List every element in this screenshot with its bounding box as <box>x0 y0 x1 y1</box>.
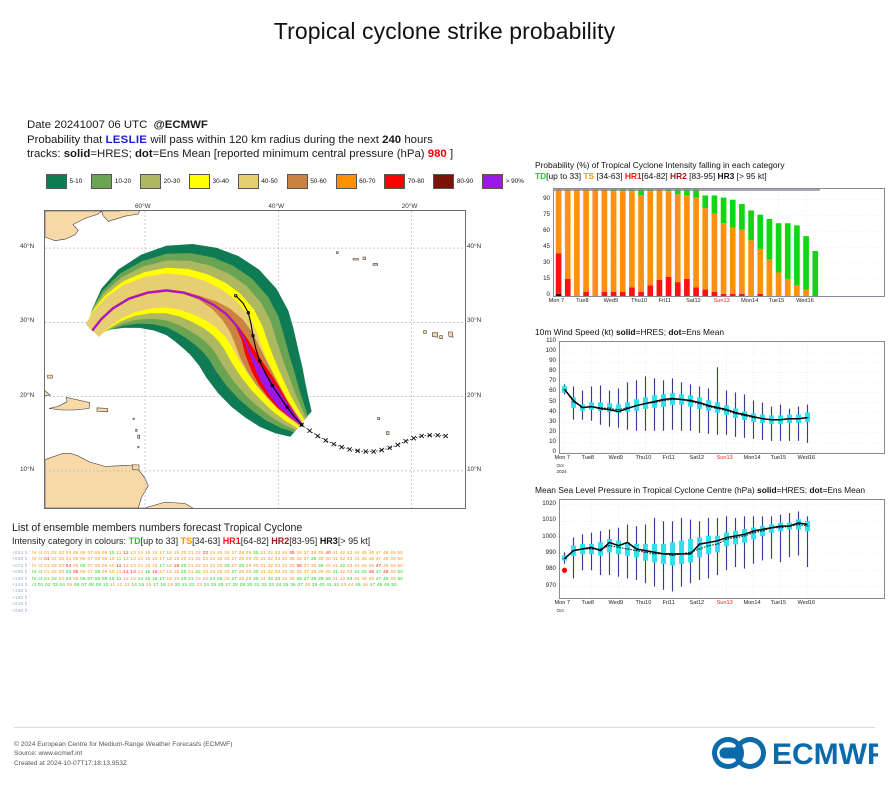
storm-name: LESLIE <box>106 134 148 146</box>
page-root: Tropical cyclone strike probability Date… <box>0 0 889 800</box>
ensemble-member-34: 34 <box>282 576 288 581</box>
mslp-title-mid2: =Ens Mean <box>822 485 865 495</box>
ensemble-member-01: 01 <box>44 563 50 568</box>
ensemble-member-ct: ct <box>38 563 42 568</box>
ensemble-member-20: 20 <box>181 576 187 581</box>
wind-ytick-0: 0 <box>535 448 556 455</box>
ensemble-member-06: 06 <box>80 576 86 581</box>
ensemble-member-01: 01 <box>44 569 50 574</box>
ensemble-member-05: 05 <box>67 582 73 587</box>
probability-colorbar: 5-1010-2020-3030-4040-5050-6060-7070-808… <box>46 174 533 189</box>
observed-track-marker-9 <box>372 449 376 453</box>
ensemble-member-43: 43 <box>347 569 353 574</box>
ensemble-member-42: 42 <box>340 556 346 561</box>
ensemble-member-50: 50 <box>398 569 404 574</box>
ensemble-member-16: 16 <box>152 556 158 561</box>
bar-6-HR1 <box>611 292 617 296</box>
wind-ytick-4: 40 <box>535 408 556 415</box>
intensity-xtick-6: Sun13 <box>714 298 730 304</box>
ensemble-member-19: 19 <box>174 569 180 574</box>
colorbar-swatch <box>384 174 405 189</box>
ip-range-hr3: [> 95 kt] <box>737 171 767 181</box>
wind-xtick-7: Mon14 <box>744 455 761 461</box>
ensemble-member-04: 04 <box>60 582 66 587</box>
bar-14-TS <box>684 195 690 278</box>
ensemble-member-20: 20 <box>181 563 187 568</box>
ensemble-member-45: 45 <box>361 563 367 568</box>
ensemble-member-44: 44 <box>354 576 360 581</box>
ensemble-member-25: 25 <box>217 569 223 574</box>
ensemble-member-15: 15 <box>139 582 145 587</box>
mslp-xtick-8: Tue15 <box>771 600 787 606</box>
ensemble-member-50: 50 <box>398 550 404 555</box>
ensemble-member-49: 49 <box>390 563 396 568</box>
observed-track-marker-4 <box>332 442 336 446</box>
ensemble-member-03: 03 <box>59 556 65 561</box>
colorbar-item-3: 30-40 <box>189 174 229 189</box>
ensemble-member-09: 09 <box>102 556 108 561</box>
intensity-ytick-4: 60 <box>535 227 550 234</box>
ensemble-member-15: 15 <box>145 550 151 555</box>
ensemble-member-14: 14 <box>138 576 144 581</box>
ensemble-member-10: 10 <box>109 550 115 555</box>
ensemble-legend-prefix: Intensity category in colours: <box>12 536 126 546</box>
ensemble-member-hr: hr <box>32 550 37 555</box>
wind-xsub-1: 2024 <box>557 469 567 474</box>
bar-1-TS <box>565 189 571 279</box>
legend-range-td: [up to 33] <box>141 536 179 546</box>
ensemble-member-23: 23 <box>203 550 209 555</box>
colorbar-swatch <box>482 174 503 189</box>
ensemble-member-hr: hr <box>32 563 37 568</box>
ensemble-member-17: 17 <box>159 563 165 568</box>
ip-range-hr1: [64-82] <box>642 171 668 181</box>
ip-legend-hr3: HR3 <box>718 171 735 181</box>
ensemble-member-10: 10 <box>109 569 115 574</box>
mslp-ytick-5: 1020 <box>535 500 556 507</box>
landmass-22 <box>386 432 389 435</box>
ensemble-member-12: 12 <box>123 576 129 581</box>
ensemble-member-ct: ct <box>38 550 42 555</box>
ensemble-member-41: 41 <box>333 550 339 555</box>
wind-title-mid1: =HRES; <box>636 327 669 337</box>
ensemble-member-17: 17 <box>159 556 165 561</box>
ensemble-member-49: 49 <box>390 556 396 561</box>
ensemble-member-47: 47 <box>376 576 382 581</box>
ensemble-member-04: 04 <box>66 576 72 581</box>
colorbar-label: 30-40 <box>213 178 229 185</box>
mslp-ytick-3: 1000 <box>535 533 556 540</box>
legend-code-td: TD <box>129 536 141 546</box>
ensemble-member-36: 36 <box>296 563 302 568</box>
ensemble-member-46: 46 <box>369 550 375 555</box>
legend-code-hr2: HR2 <box>271 536 289 546</box>
ensemble-member-48: 48 <box>383 550 389 555</box>
ensemble-member-20: 20 <box>181 556 187 561</box>
wind-ytick-5: 50 <box>535 398 556 405</box>
ensemble-member-45: 45 <box>361 569 367 574</box>
ensemble-member-34: 34 <box>282 556 288 561</box>
ensemble-member-17: 17 <box>159 569 165 574</box>
legend-range-hr1: [64-82] <box>241 536 269 546</box>
landmass-27 <box>48 375 53 378</box>
ensemble-member-16: 16 <box>146 582 152 587</box>
mslp-ytick-2: 990 <box>535 549 556 556</box>
ensemble-member-23: 23 <box>203 556 209 561</box>
ensemble-member-27: 27 <box>231 576 237 581</box>
bar-21-TS <box>748 240 754 296</box>
ensemble-member-41: 41 <box>333 569 339 574</box>
ensemble-member-09: 09 <box>102 563 108 568</box>
wind-speed-chart: 10m Wind Speed (kt) solid=HRES; dot=Ens … <box>535 327 883 338</box>
ensemble-member-47: 47 <box>376 556 382 561</box>
wind-xtick-8: Tue15 <box>771 455 787 461</box>
ensemble-member-44: 44 <box>348 582 354 587</box>
intensity-xtick-5: Sat12 <box>686 298 701 304</box>
ensemble-member-02: 02 <box>51 576 57 581</box>
ensemble-member-44: 44 <box>354 569 360 574</box>
bar-12-TS <box>666 191 672 277</box>
bar-18-TD <box>721 198 727 224</box>
mslp-xtick-3: Thu10 <box>636 600 652 606</box>
landmass-11 <box>138 435 140 438</box>
legend-code-hr3: HR3 <box>320 536 338 546</box>
colorbar-swatch <box>336 174 357 189</box>
colorbar-item-6: 60-70 <box>336 174 376 189</box>
ensemble-member-31: 31 <box>260 569 266 574</box>
ensemble-member-45: 45 <box>361 556 367 561</box>
ensemble-member-27: 27 <box>225 582 231 587</box>
map-lon-label-1: 40°W <box>268 203 284 210</box>
ensemble-member-38: 38 <box>311 563 317 568</box>
ensemble-member-04: 04 <box>66 550 72 555</box>
ensemble-member-36: 36 <box>296 576 302 581</box>
ensemble-member-13: 13 <box>130 550 136 555</box>
wind-ytick-2: 20 <box>535 428 556 435</box>
ensemble-member-08: 08 <box>88 582 94 587</box>
ensemble-member-08: 08 <box>95 576 101 581</box>
ensemble-member-30: 30 <box>253 550 259 555</box>
ensemble-member-30: 30 <box>247 582 253 587</box>
date-value: 20241007 06 UTC <box>54 119 147 131</box>
map-lat-label-right-2: 20°N <box>467 392 481 399</box>
observed-track-marker-14 <box>412 436 416 440</box>
box-14 <box>688 539 693 562</box>
ensemble-member-06: 06 <box>80 556 86 561</box>
tracks-pre: tracks: <box>27 148 61 160</box>
landmass-13 <box>336 252 338 254</box>
ensemble-member-25: 25 <box>217 550 223 555</box>
ensemble-member-35: 35 <box>289 550 295 555</box>
ensemble-member-06: 06 <box>80 550 86 555</box>
ensemble-member-06: 06 <box>80 569 86 574</box>
ensemble-member-44: 44 <box>354 550 360 555</box>
bar-10-HR1 <box>647 285 653 296</box>
ensemble-member-44: 44 <box>354 556 360 561</box>
ensemble-member-43: 43 <box>347 563 353 568</box>
ensemble-member-02: 02 <box>51 550 57 555</box>
ensemble-member-42: 42 <box>340 563 346 568</box>
intensity-ytick-3: 45 <box>535 243 550 250</box>
legend-code-ts: TS <box>181 536 193 546</box>
ensemble-member-35: 35 <box>289 569 295 574</box>
wind-xtick-1: Tue8 <box>582 455 595 461</box>
colorbar-label: 10-20 <box>115 178 131 185</box>
ensemble-member-42: 42 <box>340 576 346 581</box>
observed-track-marker-11 <box>388 446 392 450</box>
colorbar-item-5: 50-60 <box>287 174 327 189</box>
ensemble-member-12: 12 <box>123 556 129 561</box>
bar-25-TS <box>785 279 791 296</box>
ensemble-member-12: 12 <box>117 582 123 587</box>
bar-26-TD <box>794 225 800 285</box>
ensemble-member-15: 15 <box>145 556 151 561</box>
ensemble-member-31: 31 <box>260 556 266 561</box>
ensemble-member-27: 27 <box>231 556 237 561</box>
prob-post: hours <box>404 134 433 146</box>
ecmwf-logo: ECMWF <box>706 733 878 778</box>
ensemble-member-31: 31 <box>260 550 266 555</box>
landmass-18 <box>432 333 437 337</box>
ensemble-member-43: 43 <box>347 556 353 561</box>
bar-26-TS <box>794 285 800 296</box>
wind-ytick-6: 60 <box>535 387 556 394</box>
ensemble-member-39: 39 <box>318 576 324 581</box>
ensemble-member-46: 46 <box>362 582 368 587</box>
wind-xtick-5: Sat12 <box>690 455 705 461</box>
bar-15-TS <box>693 198 699 288</box>
ip-range-ts: [34-63] <box>596 171 622 181</box>
ensemble-member-41: 41 <box>326 582 332 587</box>
ensemble-member-48: 48 <box>383 569 389 574</box>
ensemble-member-02: 02 <box>51 563 57 568</box>
ensemble-member-21: 21 <box>188 569 194 574</box>
ensemble-member-11: 11 <box>116 556 121 561</box>
ensemble-member-09: 09 <box>102 576 108 581</box>
ensemble-member-02: 02 <box>51 569 57 574</box>
wind-ytick-11: 110 <box>535 337 556 344</box>
intensity-xtick-8: Tue15 <box>769 298 785 304</box>
colorbar-item-8: 80-90 <box>433 174 473 189</box>
ensemble-member-25: 25 <box>217 576 223 581</box>
colorbar-item-1: 10-20 <box>91 174 131 189</box>
footer-created: Created at 2024-10-07T17:18:13.953Z <box>14 759 232 768</box>
ensemble-member-ct: ct <box>38 569 42 574</box>
ensemble-member-29: 29 <box>240 582 246 587</box>
ensemble-member-42: 42 <box>340 569 346 574</box>
ensemble-member-45: 45 <box>355 582 361 587</box>
mslp-ytick-0: 970 <box>535 582 556 589</box>
ensemble-member-08: 08 <box>95 563 101 568</box>
prob-pre: Probability that <box>27 134 102 146</box>
bar-24-TD <box>776 223 782 272</box>
ensemble-member-17: 17 <box>159 550 165 555</box>
prob-mid: will pass within 120 km radius during th… <box>150 134 379 146</box>
bar-23-TS <box>767 260 773 296</box>
ensemble-member-38: 38 <box>311 576 317 581</box>
ensemble-member-13: 13 <box>130 563 136 568</box>
ensemble-member-44: 44 <box>354 563 360 568</box>
bar-16-TD <box>702 195 708 208</box>
mslp-xtick-2: Wed9 <box>609 600 624 606</box>
ensemble-member-23: 23 <box>196 582 202 587</box>
box-15 <box>697 538 702 558</box>
ensemble-member-18: 18 <box>167 569 173 574</box>
bar-7-TS <box>620 191 626 292</box>
ensemble-member-08: 08 <box>95 550 101 555</box>
ensemble-member-38: 38 <box>305 582 311 587</box>
ensemble-member-42: 42 <box>340 550 346 555</box>
ensemble-member-34: 34 <box>282 569 288 574</box>
mslp-title-mid1: =HRES; <box>777 485 810 495</box>
ensemble-member-35: 35 <box>283 582 289 587</box>
intensity-xtick-4: Fri11 <box>659 298 671 304</box>
wind-xtick-6: Sun13 <box>717 455 733 461</box>
ensemble-member-43: 43 <box>341 582 347 587</box>
ensemble-member-23: 23 <box>203 569 209 574</box>
bar-16-TS <box>702 208 708 289</box>
colorbar-swatch <box>140 174 161 189</box>
ensemble-member-05: 05 <box>73 563 79 568</box>
ensemble-member-28: 28 <box>233 582 239 587</box>
ip-legend-td: TD <box>535 171 546 181</box>
legend-range-hr3: [> 95 kt] <box>338 536 370 546</box>
ensemble-member-32: 32 <box>268 550 274 555</box>
bar-18-HR1 <box>721 294 727 296</box>
ensemble-member-31: 31 <box>254 582 260 587</box>
landmass-9 <box>133 418 134 419</box>
ensemble-member-26: 26 <box>224 550 230 555</box>
ensemble-member-07: 07 <box>87 550 93 555</box>
colorbar-label: 20-30 <box>164 178 180 185</box>
landmass-14 <box>353 259 358 261</box>
ensemble-member-40: 40 <box>325 563 331 568</box>
ensemble-member-14: 14 <box>138 569 144 574</box>
colorbar-label: 40-50 <box>261 178 277 185</box>
ensemble-member-46: 46 <box>369 563 375 568</box>
bar-1-HR1 <box>565 279 571 296</box>
bar-17-TS <box>712 214 718 292</box>
ensemble-member-37: 37 <box>304 550 310 555</box>
wind-xtick-2: Wed9 <box>609 455 624 461</box>
mslp-chart-title: Mean Sea Level Pressure in Tropical Cycl… <box>535 485 883 496</box>
ensemble-member-43: 43 <box>347 576 353 581</box>
bar-20-HR1 <box>739 294 745 296</box>
bar-27-TS <box>803 290 809 296</box>
bar-17-TD <box>712 195 718 213</box>
landmass-0 <box>45 211 102 241</box>
ensemble-member-47: 47 <box>376 569 382 574</box>
ensemble-member-13: 13 <box>130 569 136 574</box>
tracks-ensmean: =Ens Mean [reported minimum central pres… <box>153 148 425 160</box>
ip-legend-hr2: HR2 <box>670 171 687 181</box>
centre-label: @ECMWF <box>154 119 208 131</box>
ensemble-member-29: 29 <box>246 576 252 581</box>
ensemble-member-hr: hr <box>32 576 37 581</box>
ensemble-member-01: 01 <box>38 582 44 587</box>
ensemble-member-25: 25 <box>211 582 217 587</box>
ensemble-member-36: 36 <box>296 556 302 561</box>
ensemble-member-33: 33 <box>275 569 281 574</box>
ensemble-member-27: 27 <box>231 563 237 568</box>
ensemble-member-05: 05 <box>73 576 79 581</box>
ensemble-member-33: 33 <box>275 550 281 555</box>
ecmwf-logo-svg: ECMWF <box>706 733 878 773</box>
mslp-xtick-5: Sat12 <box>690 600 705 606</box>
ensemble-member-11: 11 <box>116 569 121 574</box>
mslp-xtick-9: Wed16 <box>798 600 816 606</box>
ensemble-member-07: 07 <box>87 556 93 561</box>
mslp-title-pre: Mean Sea Level Pressure in Tropical Cycl… <box>535 485 757 495</box>
ensemble-member-49: 49 <box>390 550 396 555</box>
ensemble-row-label: +240 h : <box>12 608 31 613</box>
colorbar-swatch <box>433 174 454 189</box>
ensemble-row-9: +240 h : <box>12 608 492 614</box>
intensity-chart-title: Probability (%) of Tropical Cyclone Inte… <box>535 160 883 171</box>
map-lat-label-right-0: 40°N <box>467 243 481 250</box>
footer-text: © 2024 European Centre for Medium-Range … <box>14 740 232 768</box>
landmass-12 <box>138 446 139 448</box>
ensemble-member-10: 10 <box>109 576 115 581</box>
ensemble-member-29: 29 <box>246 556 252 561</box>
ensemble-member-09: 09 <box>96 582 102 587</box>
colorbar-swatch <box>238 174 259 189</box>
intensity-plot-area <box>553 188 885 297</box>
ensemble-member-22: 22 <box>195 563 201 568</box>
ensemble-member-38: 38 <box>311 550 317 555</box>
observed-track-marker-1 <box>308 429 312 433</box>
ensemble-member-22: 22 <box>195 569 201 574</box>
wind-title-pre: 10m Wind Speed (kt) <box>535 327 616 337</box>
ensemble-member-40: 40 <box>325 569 331 574</box>
ensemble-member-29: 29 <box>246 550 252 555</box>
intensity-xtick-3: Thu10 <box>631 298 647 304</box>
ensemble-member-22: 22 <box>189 582 195 587</box>
ensemble-member-14: 14 <box>138 550 144 555</box>
bar-19-HR1 <box>730 294 736 296</box>
bar-3-TS <box>583 189 589 292</box>
footer-divider <box>14 727 875 728</box>
ensemble-member-02: 02 <box>51 556 57 561</box>
ip-legend-hr1: HR1 <box>625 171 642 181</box>
ensemble-member-40: 40 <box>325 576 331 581</box>
bar-6-TS <box>611 191 617 292</box>
colorbar-label: 70-80 <box>408 178 424 185</box>
mslp-ytick-1: 980 <box>535 565 556 572</box>
colorbar-item-7: 70-80 <box>384 174 424 189</box>
ensemble-member-49: 49 <box>384 582 390 587</box>
ensemble-member-46: 46 <box>369 569 375 574</box>
bar-13-HR1 <box>675 282 681 296</box>
ensemble-member-24: 24 <box>204 582 210 587</box>
ensemble-member-01: 01 <box>44 556 50 561</box>
ensemble-member-12: 12 <box>123 550 129 555</box>
ensemble-member-41: 41 <box>333 576 339 581</box>
intensity-chart-legend: TD[up to 33] TS [34-63] HR1[64-82] HR2 [… <box>535 171 883 182</box>
ensemble-row-label: +216 h : <box>12 601 31 606</box>
ensemble-member-09: 09 <box>102 569 108 574</box>
colorbar-item-9: > 90% <box>482 174 524 189</box>
ensemble-member-32: 32 <box>261 582 267 587</box>
ensemble-member-22: 22 <box>195 550 201 555</box>
ensemble-member-10: 10 <box>109 556 115 561</box>
ensemble-member-03: 03 <box>59 569 65 574</box>
ensemble-member-07: 07 <box>87 576 93 581</box>
wind-plot-area <box>559 341 885 454</box>
legend-range-ts: [34-63] <box>192 536 220 546</box>
bar-0-HR1 <box>556 253 562 294</box>
header-line-probability: Probability that LESLIE will pass within… <box>27 133 497 148</box>
